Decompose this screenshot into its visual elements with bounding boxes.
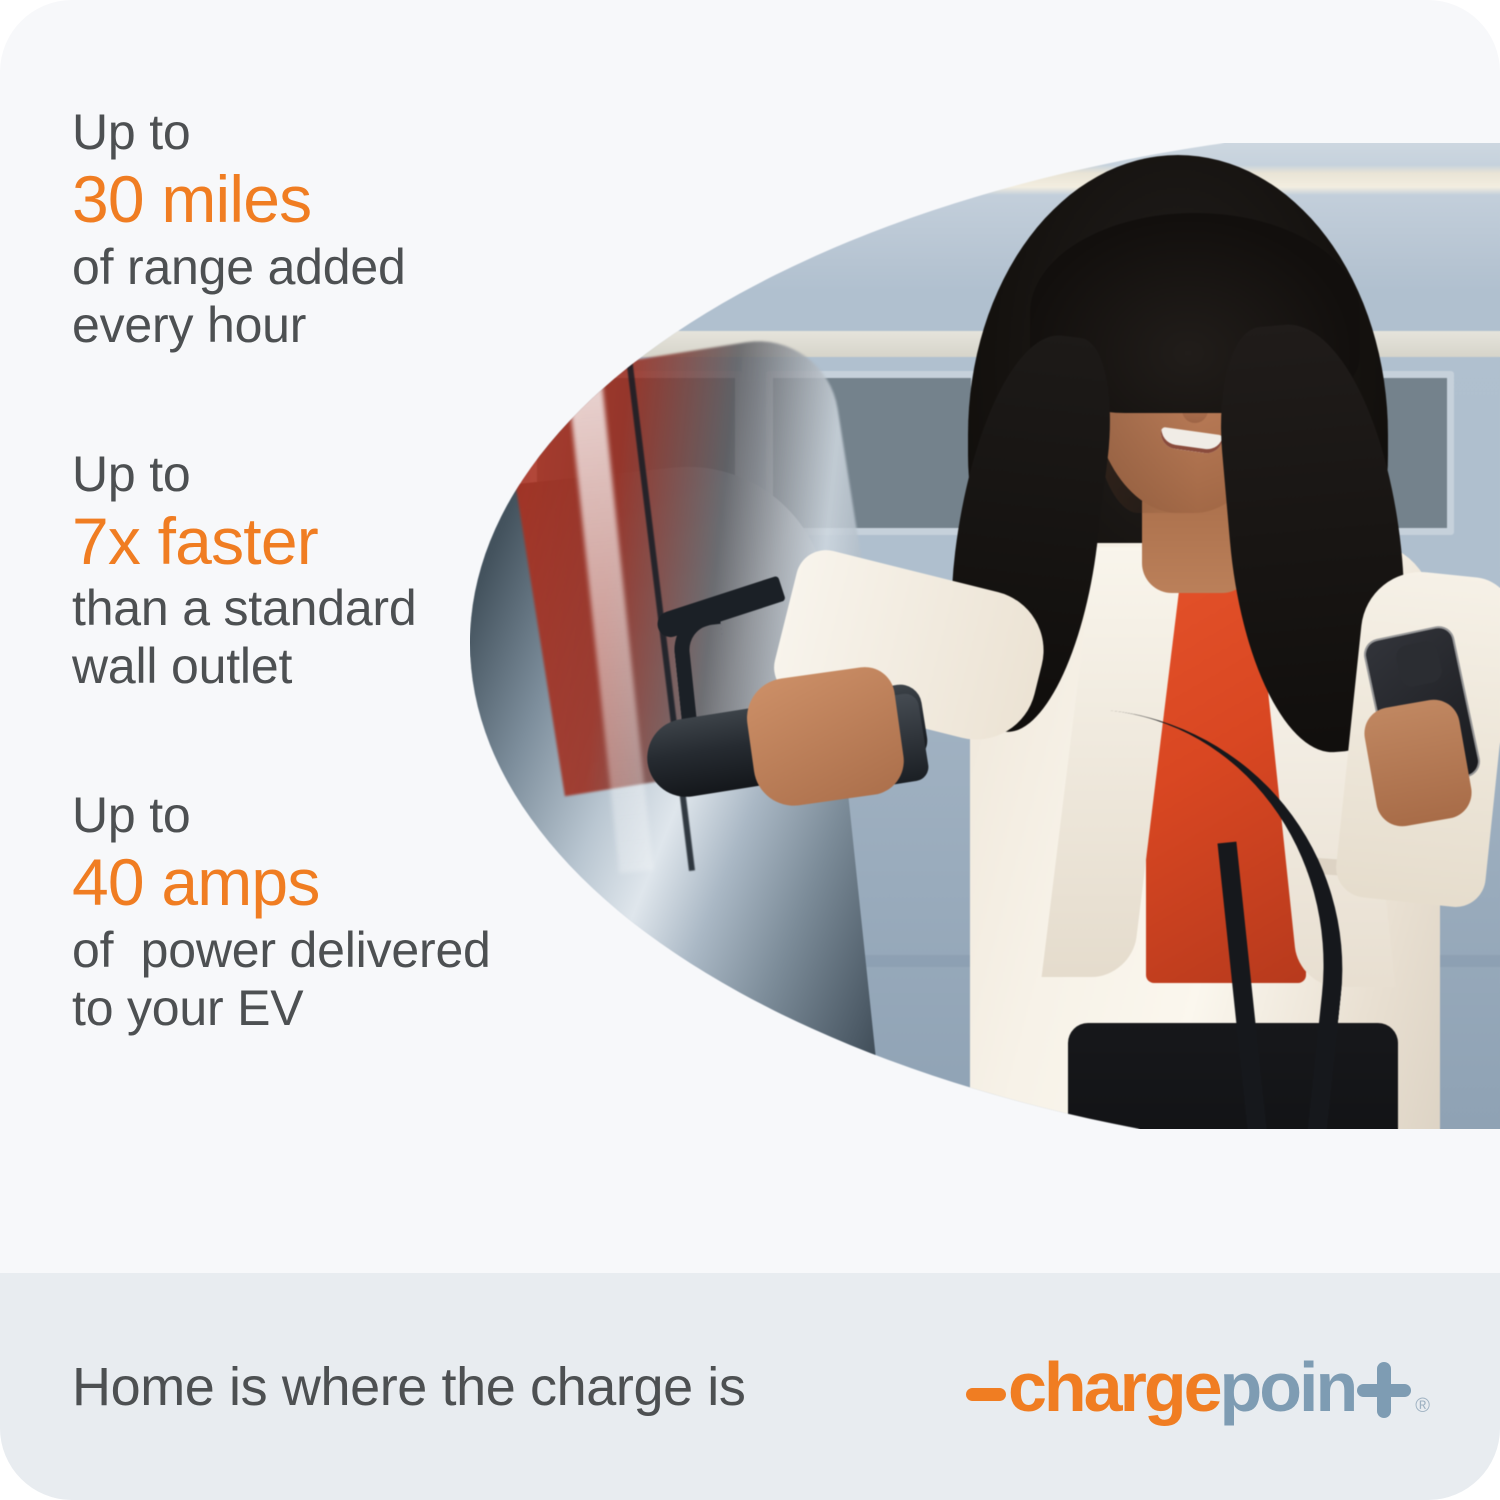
- stat-lead: Up to: [72, 104, 542, 161]
- stat-value: 7x faster: [72, 503, 542, 580]
- stat-tail: of power delivered to your EV: [72, 921, 542, 1037]
- stats-column: Up to 30 miles of range added every hour…: [72, 104, 542, 1037]
- chargepoint-logo[interactable]: charge poin ®: [966, 1352, 1430, 1422]
- footer-band: Home is where the charge is charge poin …: [0, 1273, 1500, 1500]
- stat-block-amps: Up to 40 amps of power delivered to your…: [72, 787, 542, 1037]
- stat-tail: of range added every hour: [72, 238, 542, 354]
- promo-card: Up to 30 miles of range added every hour…: [0, 0, 1500, 1500]
- stat-block-range: Up to 30 miles of range added every hour: [72, 104, 542, 354]
- hero-photo: [470, 143, 1500, 1129]
- photo-background-garage: [470, 143, 1500, 1129]
- tagline: Home is where the charge is: [72, 1356, 746, 1418]
- logo-plus-icon: [1357, 1356, 1411, 1418]
- logo-wordmark-charge: charge: [1008, 1352, 1220, 1422]
- registered-trademark-icon: ®: [1415, 1395, 1430, 1418]
- stat-value: 30 miles: [72, 161, 542, 238]
- stat-block-speed: Up to 7x faster than a standard wall out…: [72, 446, 542, 696]
- stat-lead: Up to: [72, 787, 542, 844]
- left-hand: [742, 663, 908, 811]
- logo-dash-icon: [966, 1388, 1006, 1401]
- stat-lead: Up to: [72, 446, 542, 503]
- logo-wordmark-poin: poin: [1220, 1352, 1356, 1422]
- stat-tail: than a standard wall outlet: [72, 579, 542, 695]
- stat-value: 40 amps: [72, 844, 542, 921]
- woman-figure: [470, 143, 1500, 1129]
